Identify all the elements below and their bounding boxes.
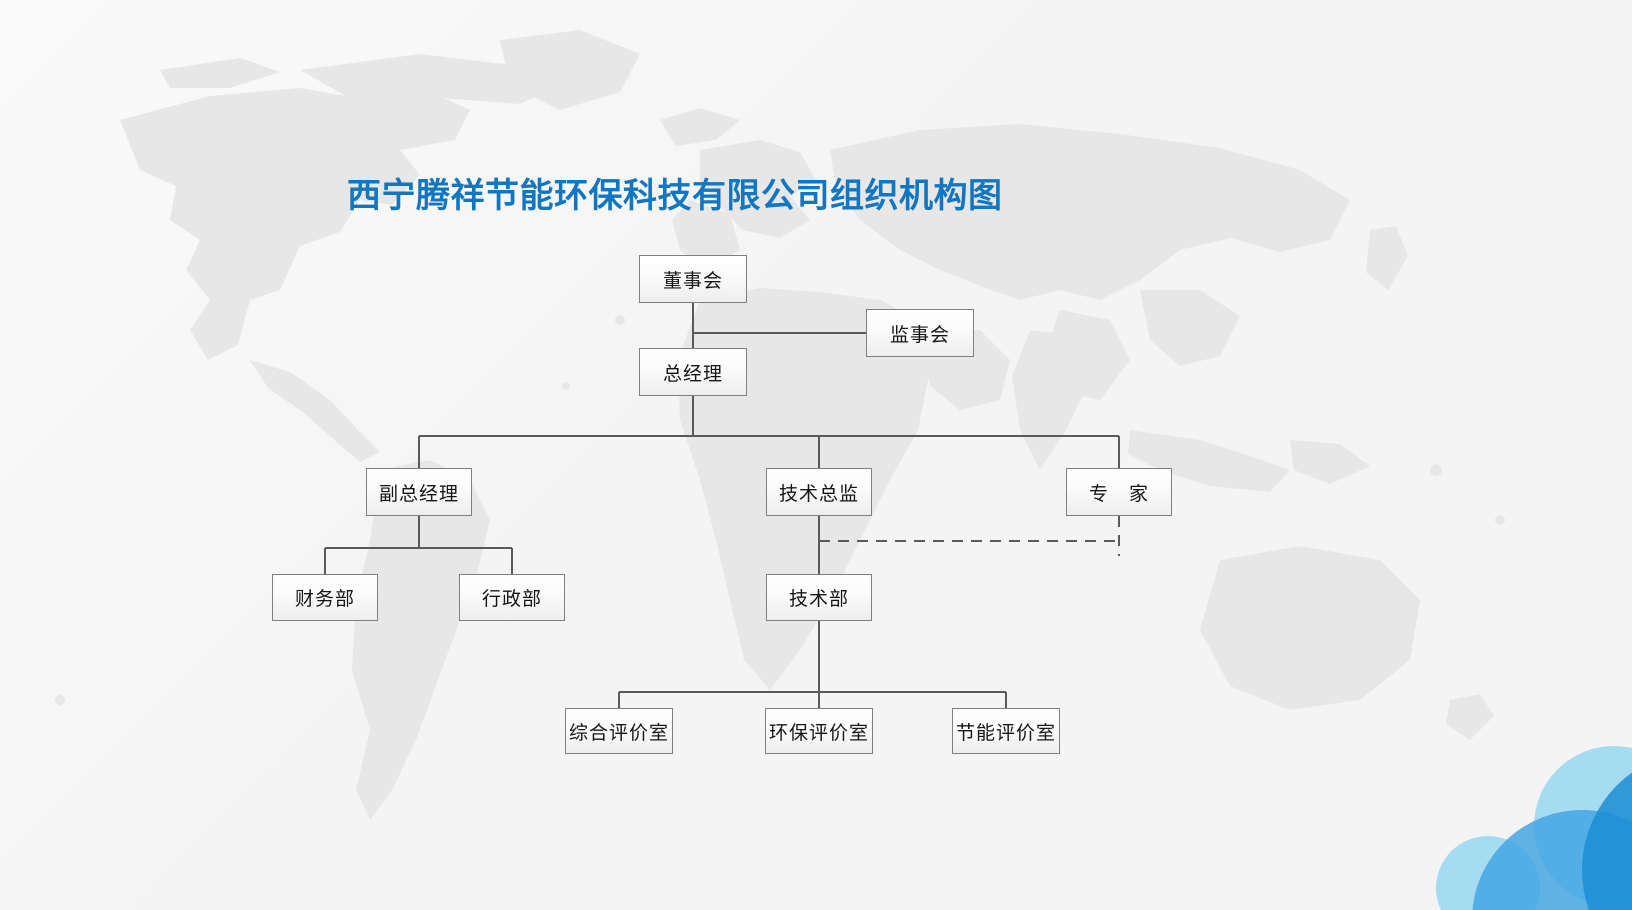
node-technology-department-label: 技术部: [789, 584, 849, 611]
node-finance-department-label: 财务部: [295, 584, 355, 611]
node-deputy-general-manager[interactable]: 副总经理: [366, 468, 472, 516]
page-title: 西宁腾祥节能环保科技有限公司组织机构图: [347, 168, 1003, 217]
node-supervisors[interactable]: 监事会: [866, 309, 974, 357]
node-deputy-general-manager-label: 副总经理: [379, 479, 459, 506]
node-expert-label: 专 家: [1089, 479, 1149, 506]
node-technical-director[interactable]: 技术总监: [766, 468, 872, 516]
node-board[interactable]: 董事会: [639, 255, 747, 303]
node-technical-director-label: 技术总监: [779, 479, 859, 506]
node-technology-department[interactable]: 技术部: [766, 574, 872, 621]
node-energy-saving-evaluation-office[interactable]: 节能评价室: [952, 708, 1060, 754]
node-expert[interactable]: 专 家: [1066, 468, 1172, 516]
node-environmental-evaluation-office[interactable]: 环保评价室: [765, 708, 873, 754]
node-finance-department[interactable]: 财务部: [272, 574, 378, 621]
slide-canvas: 西宁腾祥节能环保科技有限公司组织机构图 董事会 监事会 总经理 副总经理 技术总…: [0, 0, 1632, 910]
org-chart: 董事会 监事会 总经理 副总经理 技术总监 专 家 财务部 行政部 技术部 综合…: [0, 0, 1632, 910]
node-general-manager[interactable]: 总经理: [639, 348, 747, 396]
node-environmental-evaluation-office-label: 环保评价室: [769, 718, 869, 745]
node-board-label: 董事会: [663, 266, 723, 293]
node-supervisors-label: 监事会: [890, 320, 950, 347]
node-general-evaluation-office[interactable]: 综合评价室: [565, 708, 673, 754]
node-general-manager-label: 总经理: [663, 359, 723, 386]
node-general-evaluation-office-label: 综合评价室: [569, 718, 669, 745]
node-administration-department[interactable]: 行政部: [459, 574, 565, 621]
node-energy-saving-evaluation-office-label: 节能评价室: [956, 718, 1056, 745]
node-administration-department-label: 行政部: [482, 584, 542, 611]
